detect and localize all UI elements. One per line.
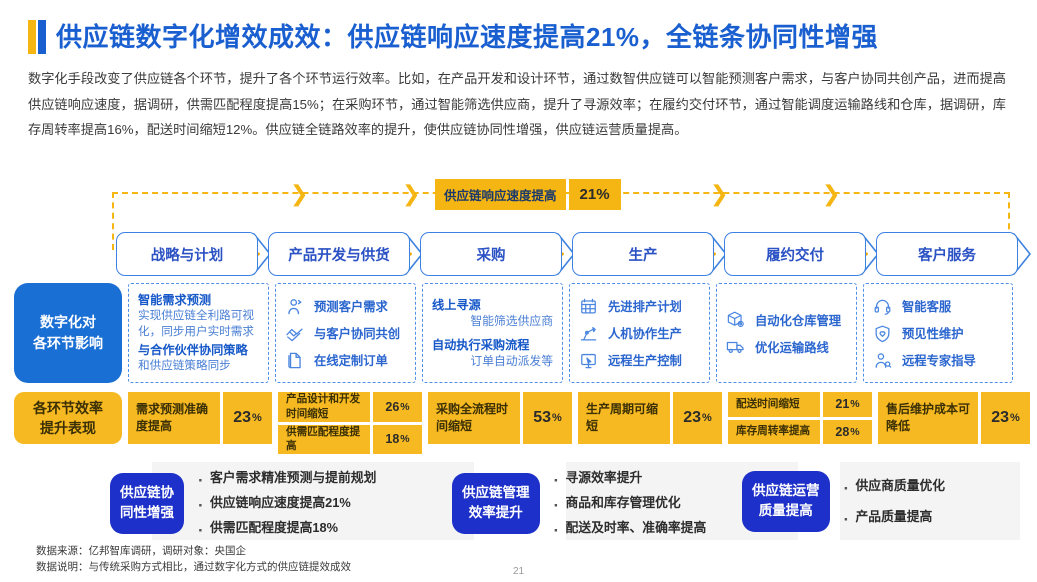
metrics-row: 需求预测准确度提高23%产品设计和开发时间缩短26%供需匹配程度提高18%采购全… <box>128 392 1030 444</box>
expert-user-icon <box>873 351 892 370</box>
impact-box-2: 预测客户需求与客户协同共创在线定制订单 <box>275 283 416 383</box>
row-label-impact-line2: 各环节影响 <box>33 333 103 354</box>
impact-icon-line: 人机协作生产 <box>579 324 700 343</box>
impact-icon-label: 智能客服 <box>902 297 951 315</box>
flow-stage-label: 履约交付 <box>766 244 824 265</box>
impact-icon-line: 预测客户需求 <box>285 297 406 316</box>
metric-group-6: 售后维护成本可降低23% <box>878 392 1030 444</box>
response-speed-badge: 供应链响应速度提高 21% <box>435 179 621 210</box>
impact-heading: 线上寻源 <box>432 297 553 313</box>
flow-stage-6[interactable]: 客户服务 <box>876 232 1018 276</box>
metric-name: 库存周转率提高 <box>728 420 820 445</box>
flow-arrow-icon-2: ❯ <box>402 183 420 205</box>
flow-stage-label: 产品开发与供货 <box>288 244 390 265</box>
page-number: 21 <box>0 566 1037 577</box>
row-label-metrics-line1: 各环节效率 <box>33 398 103 418</box>
summary-bullet: 供应商质量优化 <box>842 470 946 501</box>
summary-pill-line2: 同性增强 <box>120 503 174 523</box>
page-header: 供应链数字化增效成效：供应链响应速度提高21%，全链条协同性增强 数字化手段改变… <box>28 20 1013 143</box>
response-speed-label: 供应链响应速度提高 <box>435 179 566 210</box>
impact-icon-line: 自动化仓库管理 <box>726 310 847 329</box>
impact-icon-label: 在线定制订单 <box>314 351 388 369</box>
summary-bullet: 产品质量提高 <box>842 501 946 532</box>
summary-group-3: 供应链运营质量提高供应商质量优化产品质量提高 <box>742 470 945 533</box>
impact-icon-label: 预测客户需求 <box>314 297 388 315</box>
metric-value: 28% <box>823 420 872 445</box>
remote-monitor-icon <box>579 351 598 370</box>
summary-bullet: 客户需求精准预测与提前规划 <box>196 466 376 491</box>
summary-bullet: 供应链响应速度提高21% <box>196 491 376 516</box>
metric-number: 23 <box>991 409 1009 427</box>
metric-number: 21 <box>835 397 849 411</box>
metric-name: 产品设计和开发时间缩短 <box>278 392 370 422</box>
metric-row: 库存周转率提高28% <box>728 420 872 445</box>
impact-icon-line: 远程生产控制 <box>579 351 700 370</box>
metric-group-3: 采购全流程时间缩短53% <box>428 392 572 444</box>
impact-box-6: 智能客服预见性维护远程专家指导 <box>863 283 1013 383</box>
metric-number: 23 <box>683 409 701 427</box>
impact-icon-label: 优化运输路线 <box>755 338 829 356</box>
user-icon <box>285 297 304 316</box>
metric-value: 18% <box>373 425 422 455</box>
metric-unit: % <box>251 412 262 424</box>
flow-stage-label: 采购 <box>477 244 506 265</box>
metric-value: 23% <box>981 392 1030 444</box>
impact-icon-line: 与客户协同共创 <box>285 324 406 343</box>
flow-stage-4[interactable]: 生产 <box>572 232 714 276</box>
impact-box-row: 智能需求预测实现供应链全利路可视化，同步用户实时需求与合作伙伴协同策略和供应链策… <box>128 283 1013 383</box>
impact-icon-line: 先进排产计划 <box>579 297 700 316</box>
document-icon <box>285 351 304 370</box>
metric-value: 23% <box>223 392 272 444</box>
impact-heading: 自动执行采购流程 <box>432 337 553 353</box>
robot-arm-icon <box>579 324 598 343</box>
metric-row: 产品设计和开发时间缩短26% <box>278 392 422 422</box>
metric-unit: % <box>849 426 859 438</box>
metric-number: 28 <box>835 425 849 439</box>
impact-heading: 智能需求预测 <box>138 292 259 308</box>
impact-icon-label: 远程专家指导 <box>902 351 976 369</box>
title-accent-bar-gold <box>28 20 36 54</box>
flow-stage-label: 生产 <box>629 244 658 265</box>
impact-subtext: 智能筛选供应商 <box>432 313 553 330</box>
summary-pill-1[interactable]: 供应链协同性增强 <box>110 473 184 534</box>
impact-heading: 与合作伙伴协同策略 <box>138 342 259 358</box>
flow-stage-label: 客户服务 <box>918 244 976 265</box>
flow-stage-5[interactable]: 履约交付 <box>724 232 866 276</box>
metric-value: 23% <box>673 392 722 444</box>
metric-value: 26% <box>373 392 422 422</box>
impact-subtext: 实现供应链全利路可视化，同步用户实时需求 <box>138 308 259 340</box>
metric-name: 需求预测准确度提高 <box>128 392 220 444</box>
impact-icon-label: 远程生产控制 <box>608 351 682 369</box>
summary-bullet: 供需匹配程度提高18% <box>196 516 376 541</box>
metric-group-5: 配送时间缩短21%库存周转率提高28% <box>728 392 872 444</box>
summary-bullet-list-3: 供应商质量优化产品质量提高 <box>842 470 946 533</box>
row-label-metrics-line2: 提升表现 <box>33 418 103 438</box>
summary-group-1: 供应链协同性增强客户需求精准预测与提前规划供应链响应速度提高21%供需匹配程度提… <box>110 466 376 541</box>
flow-stage-3[interactable]: 采购 <box>420 232 562 276</box>
shield-heart-icon <box>873 324 892 343</box>
metric-unit: % <box>551 412 562 424</box>
row-label-impact-line1: 数字化对 <box>33 312 103 333</box>
spacer <box>432 330 553 337</box>
impact-icon-label: 自动化仓库管理 <box>755 311 841 329</box>
summary-pill-line2: 质量提高 <box>752 501 820 521</box>
flow-stage-2[interactable]: 产品开发与供货 <box>268 232 410 276</box>
impact-icon-label: 先进排产计划 <box>608 297 682 315</box>
flow-arrow-icon-4: ❯ <box>822 183 840 205</box>
footnote-source: 数据来源：亿邦智库调研，调研对象：央国企 <box>36 543 351 559</box>
title-accent-bars <box>28 20 46 54</box>
summary-pill-2[interactable]: 供应链管理效率提升 <box>452 473 540 534</box>
impact-icon-line: 优化运输路线 <box>726 337 847 356</box>
metric-unit: % <box>701 412 712 424</box>
summary-pill-3[interactable]: 供应链运营质量提高 <box>742 471 830 532</box>
response-speed-value: 21% <box>569 179 621 210</box>
page-title: 供应链数字化增效成效：供应链响应速度提高21%，全链条协同性增强 <box>56 24 878 50</box>
summary-bullet: 商品和库存管理优化 <box>552 491 707 516</box>
flow-stage-1[interactable]: 战略与计划 <box>116 232 258 276</box>
metric-name: 采购全流程时间缩短 <box>428 392 520 444</box>
metric-value: 53% <box>523 392 572 444</box>
summary-pill-line1: 供应链运营 <box>752 481 820 501</box>
flow-stage-row: 战略与计划产品开发与供货采购生产履约交付客户服务 <box>116 232 1028 276</box>
metric-number: 53 <box>533 409 551 427</box>
warehouse-box-icon <box>726 310 745 329</box>
flow-stage-label: 战略与计划 <box>151 244 224 265</box>
supply-chain-flow: ❯ ❯ ❯ ❯ 供应链响应速度提高 21% 战略与计划产品开发与供货采购生产履约… <box>112 192 1012 284</box>
title-row: 供应链数字化增效成效：供应链响应速度提高21%，全链条协同性增强 <box>28 20 1013 54</box>
intro-paragraph: 数字化手段改变了供应链各个环节，提升了各个环节运行效率。比如，在产品开发和设计环… <box>28 66 1006 143</box>
summary-pill-line1: 供应链管理 <box>462 483 530 503</box>
metric-name: 生产周期可缩短 <box>578 392 670 444</box>
metric-row: 配送时间缩短21% <box>728 392 872 417</box>
impact-icon-label: 人机协作生产 <box>608 324 682 342</box>
metric-unit: % <box>399 401 409 413</box>
handshake-icon <box>285 324 304 343</box>
summary-bullet-list-1: 客户需求精准预测与提前规划供应链响应速度提高21%供需匹配程度提高18% <box>196 466 376 541</box>
impact-icon-line: 智能客服 <box>873 297 1003 316</box>
impact-icon-line: 预见性维护 <box>873 324 1003 343</box>
summary-pill-line1: 供应链协 <box>120 483 174 503</box>
metric-unit: % <box>399 433 409 445</box>
title-accent-bar-blue <box>38 20 46 54</box>
summary-pill-line2: 效率提升 <box>462 503 530 523</box>
metric-unit: % <box>1009 412 1020 424</box>
metric-number: 18 <box>385 432 399 446</box>
summary-bullet: 配送及时率、准确率提高 <box>552 516 707 541</box>
flow-arrow-icon-3: ❯ <box>710 183 728 205</box>
summary-group-2: 供应链管理效率提升寻源效率提升商品和库存管理优化配送及时率、准确率提高 <box>452 466 706 541</box>
metric-value: 21% <box>823 392 872 417</box>
metric-number: 23 <box>233 409 251 427</box>
impact-icon-line: 远程专家指导 <box>873 351 1003 370</box>
metric-group-2: 产品设计和开发时间缩短26%供需匹配程度提高18% <box>278 392 422 444</box>
metric-name: 配送时间缩短 <box>728 392 820 417</box>
metric-unit: % <box>849 398 859 410</box>
impact-subtext: 订单自动派发等 <box>432 353 553 370</box>
metric-name: 供需匹配程度提高 <box>278 425 370 455</box>
metric-group-4: 生产周期可缩短23% <box>578 392 722 444</box>
truck-icon <box>726 337 745 356</box>
impact-box-1: 智能需求预测实现供应链全利路可视化，同步用户实时需求与合作伙伴协同策略和供应链策… <box>128 283 269 383</box>
metric-group-1: 需求预测准确度提高23% <box>128 392 272 444</box>
metric-number: 26 <box>385 400 399 414</box>
summary-bullet-list-2: 寻源效率提升商品和库存管理优化配送及时率、准确率提高 <box>552 466 707 541</box>
impact-box-3: 线上寻源智能筛选供应商自动执行采购流程订单自动派发等 <box>422 283 563 383</box>
impact-icon-label: 预见性维护 <box>902 324 964 342</box>
metric-name: 售后维护成本可降低 <box>878 392 978 444</box>
calendar-icon <box>579 297 598 316</box>
impact-icon-line: 在线定制订单 <box>285 351 406 370</box>
impact-icon-label: 与客户协同共创 <box>314 324 400 342</box>
impact-box-5: 自动化仓库管理优化运输路线 <box>716 283 857 383</box>
impact-box-4: 先进排产计划人机协作生产远程生产控制 <box>569 283 710 383</box>
headset-icon <box>873 297 892 316</box>
summary-bullet: 寻源效率提升 <box>552 466 707 491</box>
row-label-impact: 数字化对 各环节影响 <box>14 283 122 383</box>
impact-subtext: 和供应链策略同步 <box>138 358 259 374</box>
flow-arrow-icon-1: ❯ <box>290 183 308 205</box>
metric-row: 供需匹配程度提高18% <box>278 425 422 455</box>
row-label-metrics: 各环节效率 提升表现 <box>14 392 122 444</box>
